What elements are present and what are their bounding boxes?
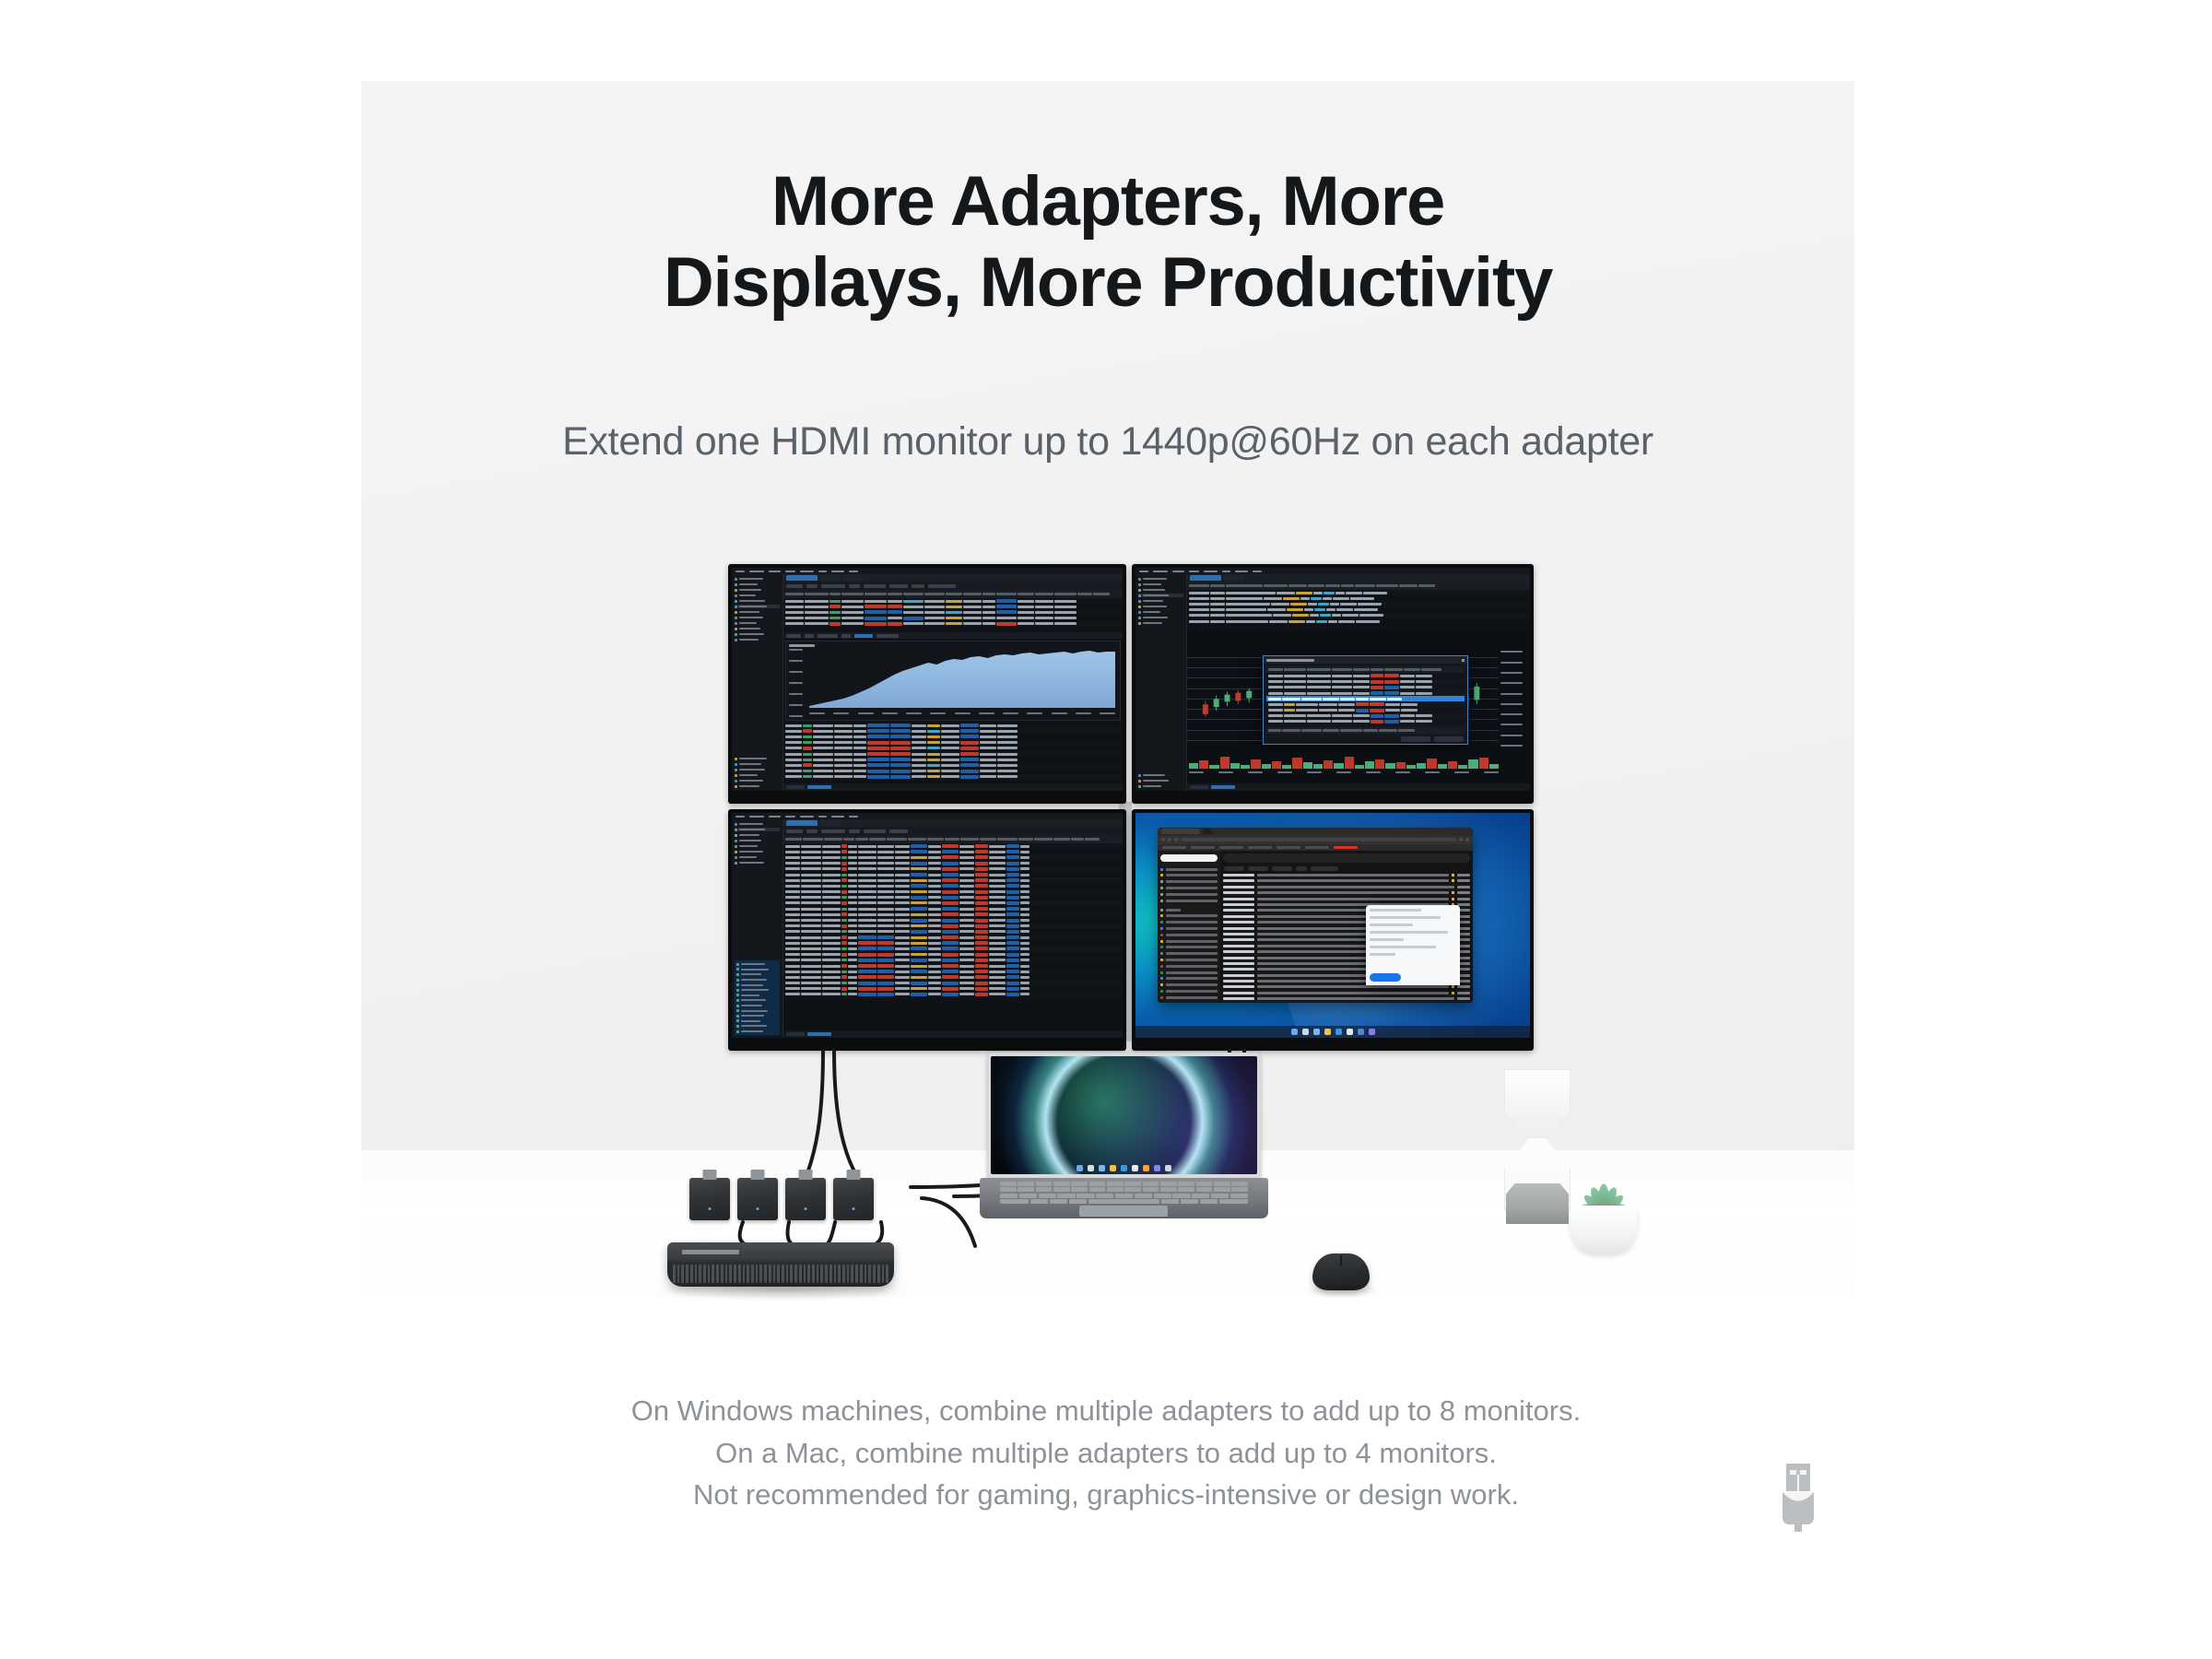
app-statusbar [783,1030,1123,1038]
sidebar-item-label[interactable] [1160,927,1218,931]
laptop-base [980,1178,1268,1218]
window-tabstrip[interactable] [783,574,1123,582]
chart-price-scale [1500,651,1530,747]
navigator-tree[interactable] [732,819,783,1038]
usb-plug-icon [703,1170,717,1180]
hub-brand-logo [682,1250,739,1254]
photos-icon[interactable] [1143,1165,1149,1171]
app-statusbar [783,783,1123,791]
store-icon[interactable] [1347,1029,1353,1035]
laptop-taskbar[interactable] [991,1162,1257,1173]
area-series [809,649,1115,708]
sidebar-item-label[interactable] [1160,990,1218,994]
windows-bloom-wallpaper [991,1056,1257,1174]
app-menubar[interactable] [732,568,1123,574]
dialog-primary-button[interactable] [1401,736,1430,742]
explorer-icon[interactable] [1110,1165,1116,1171]
usb-hdmi-adapter [833,1178,874,1220]
positions-table[interactable] [783,590,1123,632]
volume-histogram [1189,750,1499,769]
start-icon[interactable] [1077,1165,1083,1171]
navigator-tree[interactable] [732,574,783,791]
screen-top-left [732,568,1123,791]
gmail-toolbar[interactable] [1220,865,1473,873]
sidebar-item-starred[interactable] [1160,874,1218,877]
status-led [757,1207,759,1210]
usb-hdmi-adapter [689,1178,730,1220]
widgets-icon[interactable] [1099,1165,1105,1171]
browser-window[interactable] [1158,828,1473,1003]
windows-taskbar[interactable] [1135,1026,1530,1038]
journal-log[interactable] [735,960,780,1035]
hourglass-base [1506,1183,1569,1224]
mouse-shadow [1303,1281,1381,1298]
windows-desktop [1135,813,1530,1038]
footnote-caption: On Windows machines, combine multiple ad… [276,1390,1935,1516]
instruments-table[interactable] [1187,582,1530,629]
monitor-wall [728,564,1534,1051]
hub-shadow [656,1277,911,1301]
usb-plug-icon [847,1170,861,1180]
compose-window[interactable] [1366,905,1461,986]
table-row[interactable] [783,992,1123,997]
table-row[interactable] [783,774,1123,780]
store-icon[interactable] [1132,1165,1138,1171]
monitor-bottom-left [728,809,1126,1051]
laptop-keyboard[interactable] [1000,1182,1248,1204]
mouse-button-seam [1340,1255,1342,1265]
potted-succulent [1563,1169,1644,1253]
edge-icon[interactable] [1121,1165,1127,1171]
sidebar-item-label[interactable] [1160,933,1218,936]
explorer-icon[interactable] [1324,1029,1331,1035]
list-item[interactable] [1223,996,1470,1002]
page-title: More Adapters, More Displays, More Produ… [361,161,1854,324]
product-marketing-image: More Adapters, More Displays, More Produ… [0,0,2212,1659]
usb-plug-icon [751,1170,765,1180]
table-row[interactable] [1187,618,1530,624]
laptop-screen [991,1056,1257,1174]
status-led [709,1207,712,1210]
chart-x-axis [809,710,1115,717]
chart-plot-area [809,649,1115,708]
plant-pot [1571,1206,1637,1253]
sidebar-item-label[interactable] [1160,983,1218,987]
screen-top-right [1135,568,1530,791]
sidebar-item-label[interactable] [1160,995,1218,999]
sidebar-item-sent[interactable] [1160,887,1218,890]
equity-chart [789,649,1117,717]
usb-hdmi-adapter [737,1178,778,1220]
sidebar-item-label[interactable] [1160,971,1218,974]
laptop [980,1053,1268,1218]
page-subtitle: Extend one HDMI monitor up to 1440p@60Hz… [361,419,1854,465]
window-tabstrip[interactable] [783,819,1123,827]
table-row[interactable] [1266,719,1465,724]
app-toolbar[interactable] [783,827,1123,835]
monitor-top-right [1132,564,1534,804]
caption-line-1: On Windows machines, combine multiple ad… [276,1390,1935,1432]
adapter-group [689,1178,874,1233]
sidebar-item-label[interactable] [1160,952,1218,956]
table-row[interactable] [783,621,1123,627]
sidebar-item-label[interactable] [1160,939,1218,943]
sidebar-item-label[interactable] [1160,964,1218,968]
widgets-icon[interactable] [1313,1029,1320,1035]
chart-time-axis [1189,771,1499,777]
subtab-strip[interactable] [783,632,1123,639]
status-led [805,1207,807,1210]
browser-tabstrip[interactable] [1158,828,1473,836]
app-menubar[interactable] [732,813,1123,819]
laptop-trackpad[interactable] [1079,1206,1168,1217]
chart-title [789,644,815,647]
search-input[interactable] [1223,853,1470,863]
search-icon[interactable] [1302,1029,1309,1035]
sidebar-item-more[interactable] [1160,899,1218,902]
sidebar-item-label[interactable] [1160,914,1218,918]
edge-icon[interactable] [1335,1029,1342,1035]
gmail-sidebar[interactable] [1158,851,1220,1003]
headline-line-2: Displays, More Productivity [361,242,1854,324]
sidebar-item-label[interactable] [1160,946,1218,949]
send-button[interactable] [1370,973,1401,982]
monitor-bottom-right [1132,809,1534,1051]
hourglass-top-bulb [1504,1069,1571,1139]
sidebar-item-label[interactable] [1160,977,1218,981]
sidebar-item-snoozed[interactable] [1160,880,1218,884]
transactions-table[interactable] [783,723,1123,783]
screen-bottom-right [1135,813,1530,1038]
sidebar-item-label[interactable] [1160,921,1218,924]
caption-line-3: Not recommended for gaming, graphics-int… [276,1474,1935,1516]
usb-hdmi-adapter [785,1178,826,1220]
status-led [853,1207,855,1210]
caption-line-2: On a Mac, combine multiple adapters to a… [276,1432,1935,1475]
headline-line-1: More Adapters, More [361,161,1854,242]
compose-button[interactable] [1160,854,1218,862]
gmail-app[interactable] [1158,851,1473,1003]
usb-plug-icon [799,1170,813,1180]
search-icon[interactable] [1088,1165,1094,1171]
dialog-footer[interactable] [1264,734,1467,744]
browser-bookmarks-bar[interactable] [1158,844,1473,851]
dialog-titlebar[interactable] [1264,656,1467,664]
price-chart[interactable] [1187,629,1530,783]
app-menubar[interactable] [1135,568,1530,574]
usb-connector-icon [1777,1464,1819,1538]
sidebar-item-label-selected[interactable] [1160,959,1218,962]
navigator-tree[interactable] [1135,574,1187,791]
laptop-lid [987,1053,1261,1179]
sidebar-item-inbox[interactable] [1160,867,1218,871]
app-statusbar [1187,783,1530,791]
chart-y-axis [789,649,807,717]
transactions-table[interactable] [783,835,1123,1030]
sidebar-label-header [1160,908,1218,912]
close-icon[interactable] [1462,659,1465,662]
browser-address-bar[interactable] [1158,836,1473,844]
app-toolbar[interactable] [783,582,1123,590]
mail-icon[interactable] [1358,1029,1364,1035]
screen-bottom-left [732,813,1123,1038]
settings-icon[interactable] [1165,1165,1171,1171]
equity-chart-panel [785,641,1121,721]
dialog-cancel-button[interactable] [1434,736,1464,742]
options-strategy-dialog[interactable] [1263,655,1468,745]
start-icon[interactable] [1291,1029,1298,1035]
monitor-top-left [728,564,1126,804]
teams-icon[interactable] [1369,1029,1375,1035]
teams-icon[interactable] [1154,1165,1160,1171]
window-tabstrip[interactable] [1187,574,1530,582]
hourglass [1504,1069,1571,1235]
sidebar-item-drafts[interactable] [1160,892,1218,896]
